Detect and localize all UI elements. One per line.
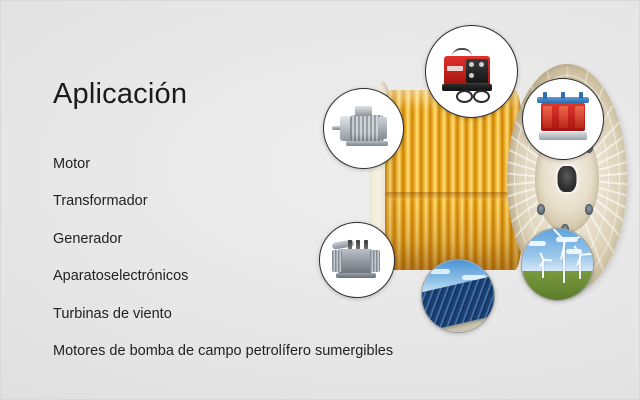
list-item-turbinas-de-viento: Turbinas de viento bbox=[53, 307, 473, 322]
badge-dry-type-transformer bbox=[522, 78, 604, 160]
oil-transformer-icon bbox=[320, 223, 394, 297]
flange-hole bbox=[537, 204, 545, 215]
badge-electric-motor bbox=[323, 88, 404, 169]
badge-solar-panels bbox=[421, 259, 495, 333]
dry-type-transformer-icon bbox=[523, 79, 603, 159]
list-item-bombas-sumergibles: Motores de bomba de campo petrolífero su… bbox=[53, 344, 473, 359]
flange-center-bore bbox=[558, 166, 577, 192]
badge-wind-turbines bbox=[521, 228, 594, 301]
solar-panels-photo bbox=[422, 260, 494, 332]
welding-machine-icon bbox=[426, 26, 517, 117]
wind-turbine bbox=[553, 241, 575, 283]
flange-hole bbox=[585, 204, 593, 215]
wind-turbine bbox=[573, 255, 587, 279]
badge-oil-transformer bbox=[319, 222, 395, 298]
wire-seam-line bbox=[385, 192, 525, 200]
electric-motor-icon bbox=[324, 89, 403, 168]
wind-turbines-photo bbox=[522, 229, 593, 300]
badge-welding-machine bbox=[425, 25, 518, 118]
application-banner: Aplicación Motor Transformador Generador… bbox=[0, 0, 640, 400]
wind-turbine bbox=[538, 260, 548, 278]
enameled-copper-wire-winding bbox=[385, 90, 525, 270]
